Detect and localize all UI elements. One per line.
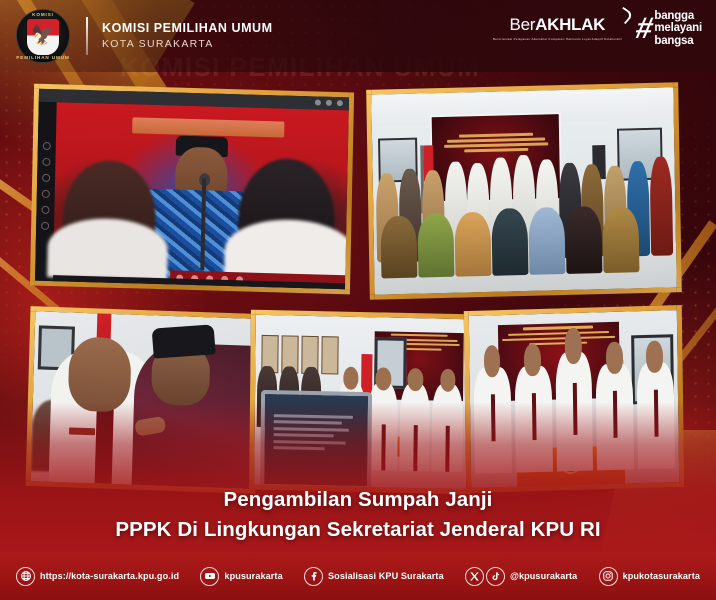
berakhlak-logo: BerAKHLAK Berorientasi Pelayanan Akuntab…	[493, 15, 622, 42]
header-bar: KOMISI 🦅 PEMILIHAN UMUM KOMISI PEMILIHAN…	[0, 0, 716, 72]
bangga-lines: bangga melayani bangsa	[654, 10, 702, 47]
photo-monitor-image: KPU	[35, 89, 349, 290]
seated-row	[379, 192, 640, 278]
caption-block: Pengambilan Sumpah Janji PPPK Di Lingkun…	[0, 488, 716, 542]
logo-ring-top-text: KOMISI	[16, 12, 70, 17]
header-text-block: KOMISI PEMILIHAN UMUM KOTA SURAKARTA	[102, 21, 273, 51]
header-subtitle: KOTA SURAKARTA	[102, 38, 273, 51]
photo-pin	[25, 306, 260, 494]
bangga-line-3: bangsa	[654, 35, 702, 47]
bangga-line-1: bangga	[654, 10, 702, 22]
youtube-icon[interactable]	[200, 567, 219, 586]
header-divider	[86, 17, 88, 55]
berakhlak-tagline: Berorientasi Pelayanan Akuntabel Kompete…	[493, 37, 622, 42]
display-monitor	[260, 390, 371, 491]
header-title: KOMISI PEMILIHAN UMUM	[102, 21, 273, 37]
window-controls	[315, 99, 343, 106]
social-footer-bar: https://kota-surakarta.kpu.go.id kpusura…	[0, 552, 716, 600]
facebook-page-label: Sosialisasi KPU Surakarta	[328, 571, 444, 581]
logo-inner-shield: 🦅	[26, 18, 60, 56]
tiktok-icon[interactable]	[486, 567, 505, 586]
instagram-handle-label: kpukotasurakarta	[623, 571, 700, 581]
facebook-icon[interactable]	[304, 567, 323, 586]
projection-text-lines	[443, 133, 550, 153]
photo-room-image	[254, 315, 468, 489]
berakhlak-prefix: Ber	[510, 15, 536, 34]
hashtag-icon: #	[633, 17, 652, 41]
caption-line-1: Pengambilan Sumpah Janji	[0, 488, 716, 512]
footer-item-instagram[interactable]: kpukotasurakarta	[599, 567, 700, 586]
footer-item-facebook[interactable]: Sosialisasi KPU Surakarta	[304, 567, 444, 586]
five-officers-row	[474, 362, 675, 474]
footer-item-website[interactable]: https://kota-surakarta.kpu.go.id	[16, 567, 179, 586]
garuda-icon: 🦅	[31, 26, 55, 45]
globe-icon[interactable]	[16, 567, 35, 586]
caption-line-2: PPPK Di Lingkungan Sekretariat Jenderal …	[0, 518, 716, 542]
berakhlak-swoosh-icon	[615, 7, 634, 24]
photo-line-image	[469, 310, 679, 488]
necktie	[94, 405, 113, 484]
poster-canvas: KOMISI PEMILIHAN UMUM KPU	[0, 0, 716, 600]
photo-group-image	[371, 87, 676, 294]
photo-pin-image	[31, 311, 256, 489]
photo-monitor: KPU	[30, 84, 354, 295]
x-icon[interactable]	[465, 567, 484, 586]
kpu-logo-icon: KOMISI 🦅 PEMILIHAN UMUM	[16, 9, 70, 63]
berakhlak-wordmark: BerAKHLAK	[493, 15, 622, 35]
photo-line	[464, 305, 685, 493]
officer-head	[68, 336, 132, 412]
instagram-icon[interactable]	[599, 567, 618, 586]
songkok-cap	[152, 325, 216, 359]
bangga-melayani-bangsa-logo: # bangga melayani bangsa	[636, 10, 702, 47]
photo-room	[249, 310, 473, 495]
footer-item-x-tiktok[interactable]: @kpusurakarta	[465, 567, 577, 586]
bangga-line-2: melayani	[654, 22, 702, 34]
stage-banner	[132, 117, 284, 137]
youtube-handle-label: kpusurakarta	[224, 571, 282, 581]
footer-item-youtube[interactable]: kpusurakarta	[200, 567, 282, 586]
logo-ring-bottom-text: PEMILIHAN UMUM	[16, 55, 70, 60]
x-tiktok-handle-label: @kpusurakarta	[510, 571, 577, 581]
photo-group	[366, 82, 682, 300]
name-badge	[69, 428, 95, 436]
website-url-label: https://kota-surakarta.kpu.go.id	[40, 571, 179, 581]
monitor-text-rows	[273, 410, 359, 454]
berakhlak-suffix: AKHLAK	[535, 15, 605, 34]
header-logos-right: BerAKHLAK Berorientasi Pelayanan Akuntab…	[493, 10, 702, 47]
screen-content: KPU	[53, 102, 349, 289]
